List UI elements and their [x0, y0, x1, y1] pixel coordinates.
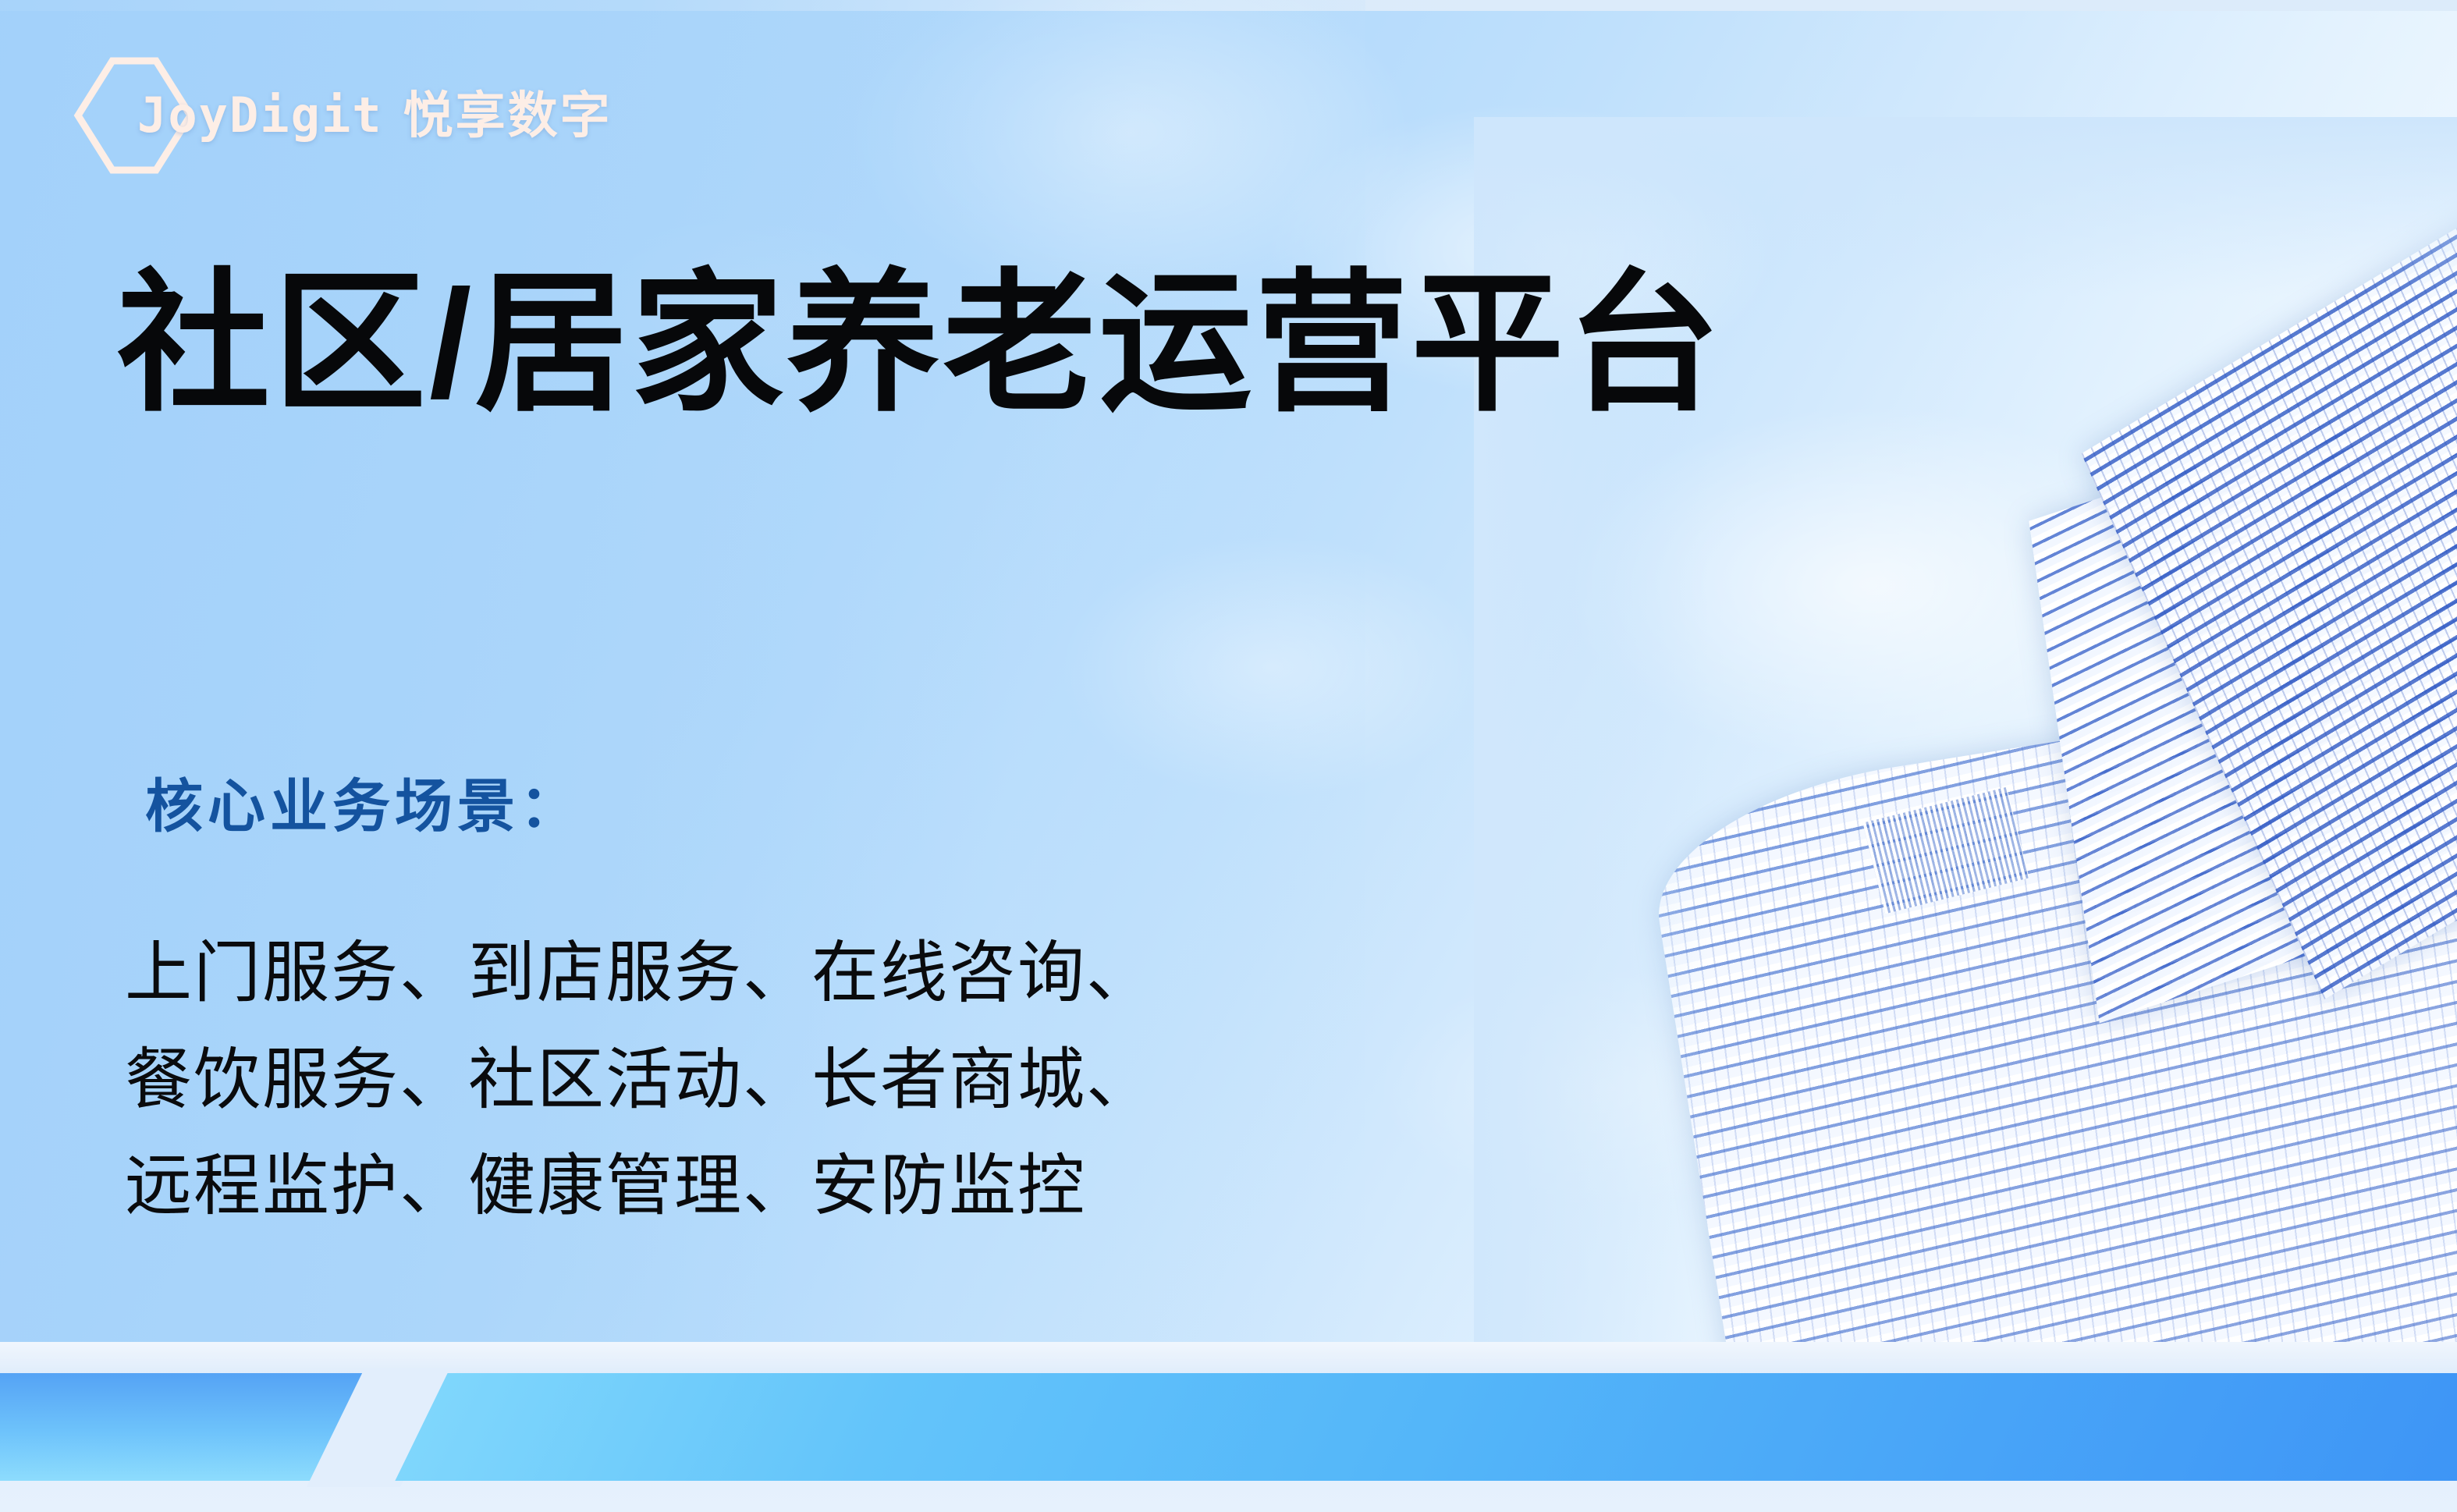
business-scenario-list: 上门服务、到店服务、在线咨询、 餐饮服务、社区活动、长者商城、 远程监护、健康管… — [125, 922, 1155, 1242]
brand-logo-latin: JoyDigit — [137, 91, 383, 140]
top-edge-strip — [0, 0, 2457, 11]
section-heading: 核心业务场景： — [145, 772, 582, 842]
list-item: 上门服务、到店服务、在线咨询、 — [125, 922, 1155, 1024]
page-title: 社区/居家养老运营平台 — [117, 264, 1723, 424]
bottom-ribbon — [0, 1342, 2457, 1512]
slide-canvas: JoyDigit 悦享数字 社区/居家养老运营平台 核心业务场景： 上门服务、到… — [0, 0, 2457, 1512]
ribbon-main-parallelogram — [395, 1373, 2457, 1481]
brand-logo-chinese: 悦享数字 — [403, 91, 612, 140]
brand-logo[interactable]: JoyDigit 悦享数字 — [137, 69, 612, 162]
sky-background — [0, 0, 2457, 1512]
list-item: 远程监护、健康管理、安防监控 — [125, 1135, 1155, 1237]
list-item: 餐饮服务、社区活动、长者商城、 — [125, 1029, 1155, 1131]
